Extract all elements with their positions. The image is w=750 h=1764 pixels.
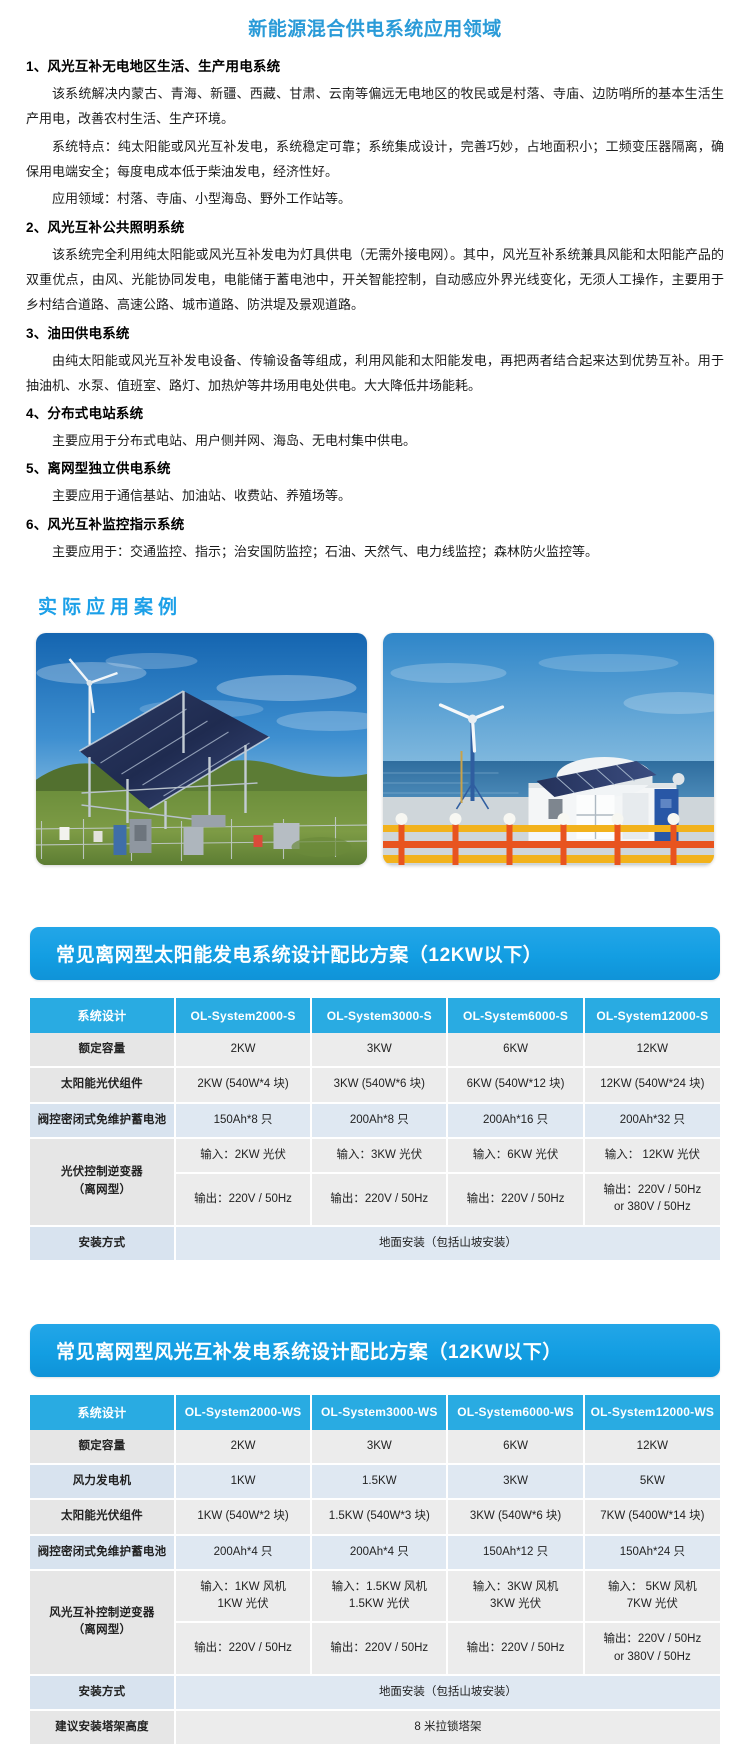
- table-cell: 1KW (540W*2 块): [175, 1499, 311, 1534]
- table-cell: 200Ah*32 只: [584, 1103, 720, 1138]
- table-cell: 6KW: [447, 1033, 583, 1067]
- output-line: 输出：220V / 50Hz: [589, 1631, 716, 1648]
- section-heading-6: 6、风光互补监控指示系统: [26, 515, 724, 536]
- output-line: 输出：220V / 50Hz: [452, 1640, 578, 1657]
- table-cell: 输出：220V / 50Hz: [311, 1622, 447, 1675]
- table-cell: 12KW: [584, 1033, 720, 1067]
- output-line: 输出：220V / 50Hz: [180, 1191, 306, 1208]
- output-line: 输出：220V / 50Hz: [180, 1640, 306, 1657]
- section-paragraph: 系统特点：纯太阳能或风光互补发电，系统稳定可靠；系统集成设计，完善巧妙，占地面积…: [26, 134, 724, 185]
- row-label: 风力发电机: [30, 1464, 175, 1499]
- section-paragraph: 应用领域：村落、寺庙、小型海岛、野外工作站等。: [26, 186, 724, 211]
- inverter-label-line2: （离网型）: [34, 1182, 170, 1199]
- table-header-row: 系统设计 OL-System2000-S OL-System3000-S OL-…: [30, 998, 720, 1033]
- hybrid-table-banner-wrap: 常见离网型风光互补发电系统设计配比方案（12KW以下）: [0, 1324, 750, 1377]
- output-line: 输出：220V / 50Hz: [316, 1191, 442, 1208]
- table-row: 太阳能光伏组件 1KW (540W*2 块) 1.5KW (540W*3 块) …: [30, 1499, 720, 1534]
- table-row: 安装方式 地面安装（包括山坡安装）: [30, 1226, 720, 1261]
- output-line: 输出：220V / 50Hz: [452, 1191, 578, 1208]
- table-cell: 200Ah*16 只: [447, 1103, 583, 1138]
- column-header: 系统设计: [30, 1395, 175, 1430]
- table-cell: 输入： 5KW 风机 7KW 光伏: [584, 1570, 720, 1623]
- table-cell: 地面安装（包括山坡安装）: [175, 1226, 720, 1261]
- input-line-pv: 1KW 光伏: [180, 1596, 306, 1613]
- table-row: 安装方式 地面安装（包括山坡安装）: [30, 1675, 720, 1710]
- table-cell: 输入：2KW 光伏: [175, 1138, 311, 1173]
- table-cell: 3KW (540W*6 块): [447, 1499, 583, 1534]
- table-row: 太阳能光伏组件 2KW (540W*4 块) 3KW (540W*6 块) 6K…: [30, 1067, 720, 1102]
- row-label: 阀控密闭式免维护蓄电池: [30, 1535, 175, 1570]
- column-header: OL-System3000-S: [311, 998, 447, 1033]
- section-heading-5: 5、离网型独立供电系统: [26, 459, 724, 480]
- row-label: 阀控密闭式免维护蓄电池: [30, 1103, 175, 1138]
- table-cell: 150Ah*12 只: [447, 1535, 583, 1570]
- inverter-label-line2: （离网型）: [34, 1622, 170, 1639]
- table-cell: 3KW: [447, 1464, 583, 1499]
- row-label: 额定容量: [30, 1033, 175, 1067]
- table-cell: 12KW (540W*24 块): [584, 1067, 720, 1102]
- case-photo-seaside-cabin: [383, 633, 714, 865]
- section-paragraph: 主要应用于：交通监控、指示；治安国防监控；石油、天然气、电力线监控；森林防火监控…: [26, 539, 724, 564]
- hybrid-spec-table: 系统设计 OL-System2000-WS OL-System3000-WS O…: [30, 1395, 720, 1747]
- row-label: 安装方式: [30, 1675, 175, 1710]
- row-label: 太阳能光伏组件: [30, 1067, 175, 1102]
- table-row: 阀控密闭式免维护蓄电池 200Ah*4 只 200Ah*4 只 150Ah*12…: [30, 1535, 720, 1570]
- column-header: OL-System12000-S: [584, 998, 720, 1033]
- output-line-extra: or 380V / 50Hz: [589, 1649, 716, 1666]
- table-row: 建议安装塔架高度 8 米拉锁塔架: [30, 1710, 720, 1745]
- solar-table-banner-wrap: 常见离网型太阳能发电系统设计配比方案（12KW以下）: [0, 927, 750, 980]
- column-header: OL-System6000-WS: [447, 1395, 583, 1430]
- row-label: 额定容量: [30, 1430, 175, 1464]
- table-cell: 6KW: [447, 1430, 583, 1464]
- solar-table-wrap: 系统设计 OL-System2000-S OL-System3000-S OL-…: [0, 998, 750, 1262]
- input-line-wind: 输入：1KW 风机: [180, 1579, 306, 1596]
- input-line-wind: 输入：1.5KW 风机: [316, 1579, 442, 1596]
- output-line: 输出：220V / 50Hz: [589, 1182, 716, 1199]
- input-line-wind: 输入： 5KW 风机: [589, 1579, 716, 1596]
- inverter-label-line1: 光伏控制逆变器: [34, 1164, 170, 1181]
- table-row-inverter-input: 风光互补控制逆变器 （离网型） 输入：1KW 风机 1KW 光伏 输入：1.5K…: [30, 1570, 720, 1623]
- table-cell: 1.5KW: [311, 1464, 447, 1499]
- table-row: 额定容量 2KW 3KW 6KW 12KW: [30, 1430, 720, 1464]
- section-paragraph: 该系统解决内蒙古、青海、新疆、西藏、甘肃、云南等偏远无电地区的牧民或是村落、寺庙…: [26, 81, 724, 132]
- table-cell: 2KW: [175, 1430, 311, 1464]
- output-line-extra: or 380V / 50Hz: [589, 1199, 716, 1216]
- table-cell: 输出：220V / 50Hz or 380V / 50Hz: [584, 1622, 720, 1675]
- section-heading-4: 4、分布式电站系统: [26, 404, 724, 425]
- input-line-pv: 3KW 光伏: [452, 1596, 578, 1613]
- table-cell: 输入：3KW 光伏: [311, 1138, 447, 1173]
- table-cell: 输出：220V / 50Hz: [175, 1622, 311, 1675]
- table-cell: 3KW (540W*6 块): [311, 1067, 447, 1102]
- case-photo-solar-field: [36, 633, 367, 865]
- column-header: OL-System12000-WS: [584, 1395, 720, 1430]
- table-cell: 150Ah*8 只: [175, 1103, 311, 1138]
- table-cell: 200Ah*4 只: [175, 1535, 311, 1570]
- section-paragraph: 由纯太阳能或风光互补发电设备、传输设备等组成，利用风能和太阳能发电，再把两者结合…: [26, 348, 724, 399]
- table-cell: 输入：1KW 风机 1KW 光伏: [175, 1570, 311, 1623]
- cases-heading: 实际应用案例: [0, 566, 750, 629]
- table-row: 额定容量 2KW 3KW 6KW 12KW: [30, 1033, 720, 1067]
- table-cell: 200Ah*4 只: [311, 1535, 447, 1570]
- table-cell: 1.5KW (540W*3 块): [311, 1499, 447, 1534]
- table-cell: 3KW: [311, 1033, 447, 1067]
- row-label: 建议安装塔架高度: [30, 1710, 175, 1745]
- column-header: OL-System6000-S: [447, 998, 583, 1033]
- table-cell: 3KW: [311, 1430, 447, 1464]
- input-line-pv: 1.5KW 光伏: [316, 1596, 442, 1613]
- solar-spec-table: 系统设计 OL-System2000-S OL-System3000-S OL-…: [30, 998, 720, 1262]
- table-cell: 200Ah*8 只: [311, 1103, 447, 1138]
- page-title: 新能源混合供电系统应用领域: [0, 0, 750, 51]
- table-cell: 地面安装（包括山坡安装）: [175, 1675, 720, 1710]
- table-cell: 7KW (5400W*14 块): [584, 1499, 720, 1534]
- table-cell: 输出：220V / 50Hz: [175, 1173, 311, 1226]
- section-heading-1: 1、风光互补无电地区生活、生产用电系统: [26, 57, 724, 78]
- case-photo-gallery: [0, 629, 750, 865]
- row-label: 安装方式: [30, 1226, 175, 1261]
- column-header: 系统设计: [30, 998, 175, 1033]
- output-line: 输出：220V / 50Hz: [316, 1640, 442, 1657]
- table-cell: 输出：220V / 50Hz: [311, 1173, 447, 1226]
- table-row-inverter-input: 光伏控制逆变器 （离网型） 输入：2KW 光伏 输入：3KW 光伏 输入：6KW…: [30, 1138, 720, 1173]
- table-cell: 1KW: [175, 1464, 311, 1499]
- bottom-spacer: [0, 1746, 750, 1764]
- column-header: OL-System2000-S: [175, 998, 311, 1033]
- section-heading-3: 3、油田供电系统: [26, 324, 724, 345]
- input-line-wind: 输入：3KW 风机: [452, 1579, 578, 1596]
- column-header: OL-System2000-WS: [175, 1395, 311, 1430]
- table-row: 风力发电机 1KW 1.5KW 3KW 5KW: [30, 1464, 720, 1499]
- hybrid-table-wrap: 系统设计 OL-System2000-WS OL-System3000-WS O…: [0, 1395, 750, 1747]
- table-cell: 150Ah*24 只: [584, 1535, 720, 1570]
- section-heading-2: 2、风光互补公共照明系统: [26, 218, 724, 239]
- table-cell: 2KW (540W*4 块): [175, 1067, 311, 1102]
- row-label-inverter: 风光互补控制逆变器 （离网型）: [30, 1570, 175, 1675]
- input-line-pv: 7KW 光伏: [589, 1596, 716, 1613]
- inverter-label-line1: 风光互补控制逆变器: [34, 1605, 170, 1622]
- table-header-row: 系统设计 OL-System2000-WS OL-System3000-WS O…: [30, 1395, 720, 1430]
- table-cell: 8 米拉锁塔架: [175, 1710, 720, 1745]
- product-detail-page: 新能源混合供电系统应用领域 1、风光互补无电地区生活、生产用电系统 该系统解决内…: [0, 0, 750, 1764]
- table-cell: 输出：220V / 50Hz or 380V / 50Hz: [584, 1173, 720, 1226]
- section-paragraph: 主要应用于分布式电站、用户侧并网、海岛、无电村集中供电。: [26, 428, 724, 453]
- section-paragraph: 该系统完全利用纯太阳能或风光互补发电为灯具供电（无需外接电网）。其中，风光互补系…: [26, 242, 724, 318]
- hybrid-table-banner: 常见离网型风光互补发电系统设计配比方案（12KW以下）: [30, 1324, 720, 1377]
- table-cell: 输入：1.5KW 风机 1.5KW 光伏: [311, 1570, 447, 1623]
- column-header: OL-System3000-WS: [311, 1395, 447, 1430]
- table-cell: 输入：6KW 光伏: [447, 1138, 583, 1173]
- table-cell: 输出：220V / 50Hz: [447, 1173, 583, 1226]
- row-label: 太阳能光伏组件: [30, 1499, 175, 1534]
- table-cell: 输入：3KW 风机 3KW 光伏: [447, 1570, 583, 1623]
- table-cell: 6KW (540W*12 块): [447, 1067, 583, 1102]
- section-paragraph: 主要应用于通信基站、加油站、收费站、养殖场等。: [26, 483, 724, 508]
- table-cell: 12KW: [584, 1430, 720, 1464]
- row-label-inverter: 光伏控制逆变器 （离网型）: [30, 1138, 175, 1226]
- table-cell: 输出：220V / 50Hz: [447, 1622, 583, 1675]
- table-row: 阀控密闭式免维护蓄电池 150Ah*8 只 200Ah*8 只 200Ah*16…: [30, 1103, 720, 1138]
- solar-table-banner: 常见离网型太阳能发电系统设计配比方案（12KW以下）: [30, 927, 720, 980]
- table-cell: 2KW: [175, 1033, 311, 1067]
- table-cell: 输入： 12KW 光伏: [584, 1138, 720, 1173]
- article-body: 1、风光互补无电地区生活、生产用电系统 该系统解决内蒙古、青海、新疆、西藏、甘肃…: [0, 57, 750, 564]
- table-cell: 5KW: [584, 1464, 720, 1499]
